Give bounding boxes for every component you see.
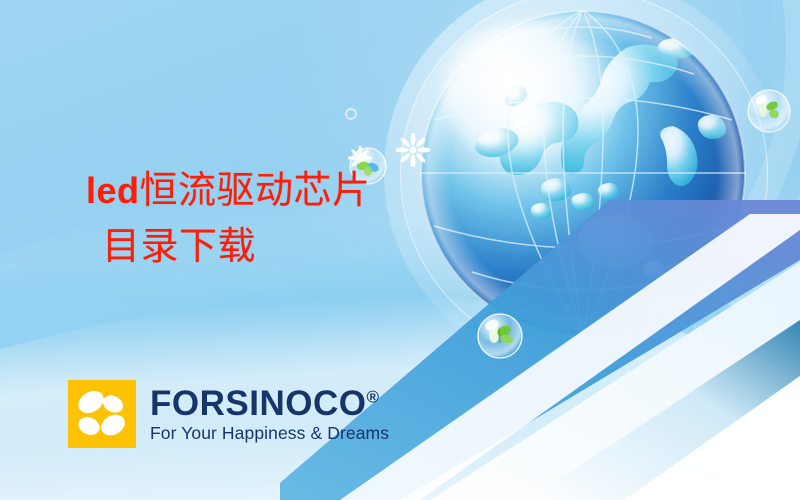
headline-cjk-part: 恒流驱动芯片 [140,170,371,212]
headline-block: led恒流驱动芯片 目录下载 [86,163,506,275]
logo-wordmark: FORSINOCO® [150,386,389,422]
headline-latin-word: led [86,170,140,211]
registered-trademark-icon: ® [366,387,379,406]
logo-wordmark-text: FORSINOCO [150,384,366,423]
logo-tagline: For Your Happiness & Dreams [150,423,389,443]
logo-mark-square [68,380,136,448]
bubble-pinwheel-mid-icon [476,312,524,360]
bubble-pinwheel-right-icon [746,88,792,134]
headline-line-2: 目录下载 [86,219,506,275]
logo-text-block: FORSINOCO® For Your Happiness & Dreams [150,386,389,443]
company-logo: FORSINOCO® For Your Happiness & Dreams [68,380,389,448]
headline-line-1: led恒流驱动芯片 [86,163,506,219]
pinwheel-flower-icon [68,380,136,448]
sparkle-star-large-icon [396,133,430,167]
promo-banner: led恒流驱动芯片 目录下载 FORSINOCO® For Your Happi… [0,0,800,500]
sparkle-dot-icon [345,108,357,120]
